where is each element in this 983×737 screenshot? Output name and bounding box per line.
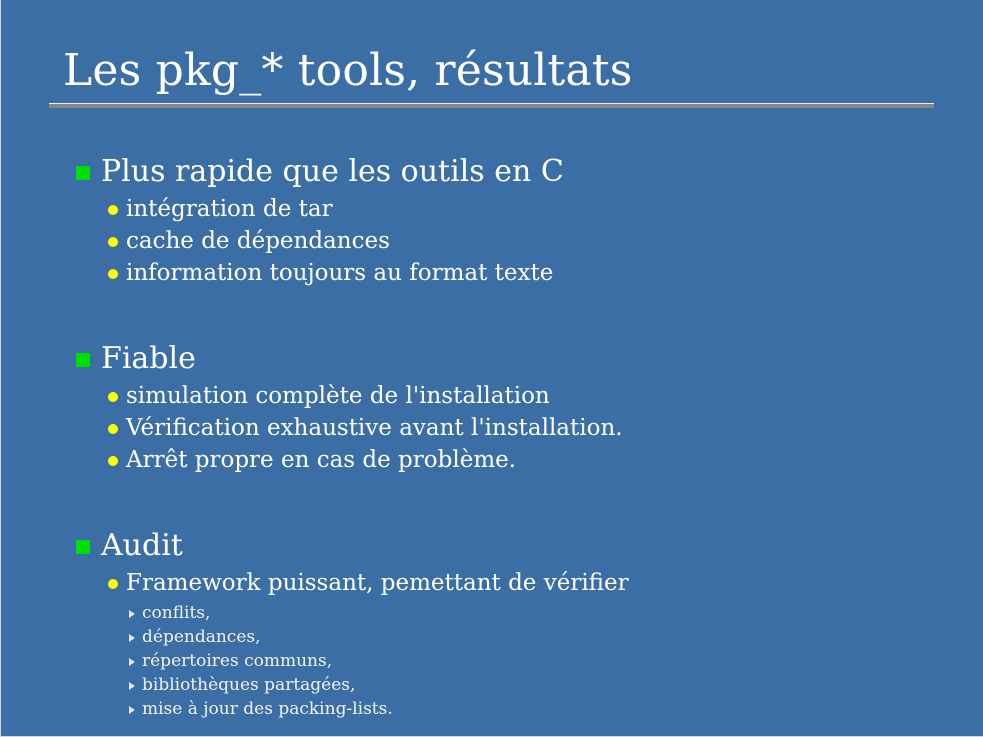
list-item-label: Framework puissant, pemettant de vérifie… (126, 570, 629, 596)
yellow-dot-bullet-icon (108, 269, 118, 279)
list-item-label: Vérification exhaustive avant l'installa… (126, 415, 623, 441)
list-item-label: Arrêt propre en cas de problème. (126, 447, 516, 473)
slide-section: Fiable simulation complète de l'installa… (1, 339, 983, 476)
title-divider (49, 103, 934, 108)
section-heading: Fiable (1, 339, 983, 379)
slide-title-block: Les pkg_* tools, résultats (49, 44, 934, 108)
list-item-label: intégration de tar (126, 196, 333, 222)
list-item-label: simulation complète de l'installation (126, 383, 550, 409)
triangle-bullet-icon (129, 682, 135, 690)
list-item: Framework puissant, pemettant de vérifie… (1, 567, 983, 599)
section-heading: Audit (1, 526, 983, 566)
green-square-bullet-icon (76, 353, 90, 367)
list-item: Arrêt propre en cas de problème. (1, 444, 983, 476)
list-item: dépendances, (1, 625, 983, 649)
slide-body: Plus rapide que les outils en C intégrat… (1, 152, 983, 721)
section-heading: Plus rapide que les outils en C (1, 152, 983, 192)
list-item: conflits, (1, 601, 983, 625)
list-item-label: information toujours au format texte (126, 260, 553, 286)
list-item: Vérification exhaustive avant l'installa… (1, 412, 983, 444)
list-item: simulation complète de l'installation (1, 380, 983, 412)
sublist: simulation complète de l'installation Vé… (1, 380, 983, 476)
list-item-label: mise à jour des packing-lists. (142, 699, 393, 719)
presentation-slide: Les pkg_* tools, résultats Plus rapide q… (0, 0, 983, 737)
section-heading-label: Plus rapide que les outils en C (101, 154, 564, 189)
list-item-label: conflits, (142, 603, 210, 623)
list-item-label: dépendances, (142, 627, 261, 647)
yellow-dot-bullet-icon (108, 392, 118, 402)
list-item-label: bibliothèques partagées, (142, 675, 355, 695)
page-title: Les pkg_* tools, résultats (49, 44, 934, 98)
sublist: Framework puissant, pemettant de vérifie… (1, 567, 983, 721)
list-item-label: cache de dépendances (126, 228, 390, 254)
sub-sublist: conflits, dépendances, répertoires commu… (1, 601, 983, 721)
slide-section: Plus rapide que les outils en C intégrat… (1, 152, 983, 289)
triangle-bullet-icon (129, 658, 135, 666)
section-spacer (1, 504, 983, 526)
list-item-label: répertoires communs, (142, 651, 332, 671)
section-heading-label: Audit (101, 528, 183, 563)
yellow-dot-bullet-icon (108, 424, 118, 434)
list-item: répertoires communs, (1, 649, 983, 673)
yellow-dot-bullet-icon (108, 579, 118, 589)
green-square-bullet-icon (76, 540, 90, 554)
yellow-dot-bullet-icon (108, 237, 118, 247)
triangle-bullet-icon (129, 706, 135, 714)
yellow-dot-bullet-icon (108, 456, 118, 466)
list-item: bibliothèques partagées, (1, 673, 983, 697)
list-item: intégration de tar (1, 193, 983, 225)
triangle-bullet-icon (129, 610, 135, 618)
yellow-dot-bullet-icon (108, 205, 118, 215)
list-item: cache de dépendances (1, 225, 983, 257)
section-heading-label: Fiable (101, 341, 196, 376)
triangle-bullet-icon (129, 634, 135, 642)
sublist: intégration de tar cache de dépendances … (1, 193, 983, 289)
section-spacer (1, 317, 983, 339)
list-item: mise à jour des packing-lists. (1, 697, 983, 721)
list-item: information toujours au format texte (1, 257, 983, 289)
green-square-bullet-icon (76, 166, 90, 180)
slide-section: Audit Framework puissant, pemettant de v… (1, 526, 983, 721)
